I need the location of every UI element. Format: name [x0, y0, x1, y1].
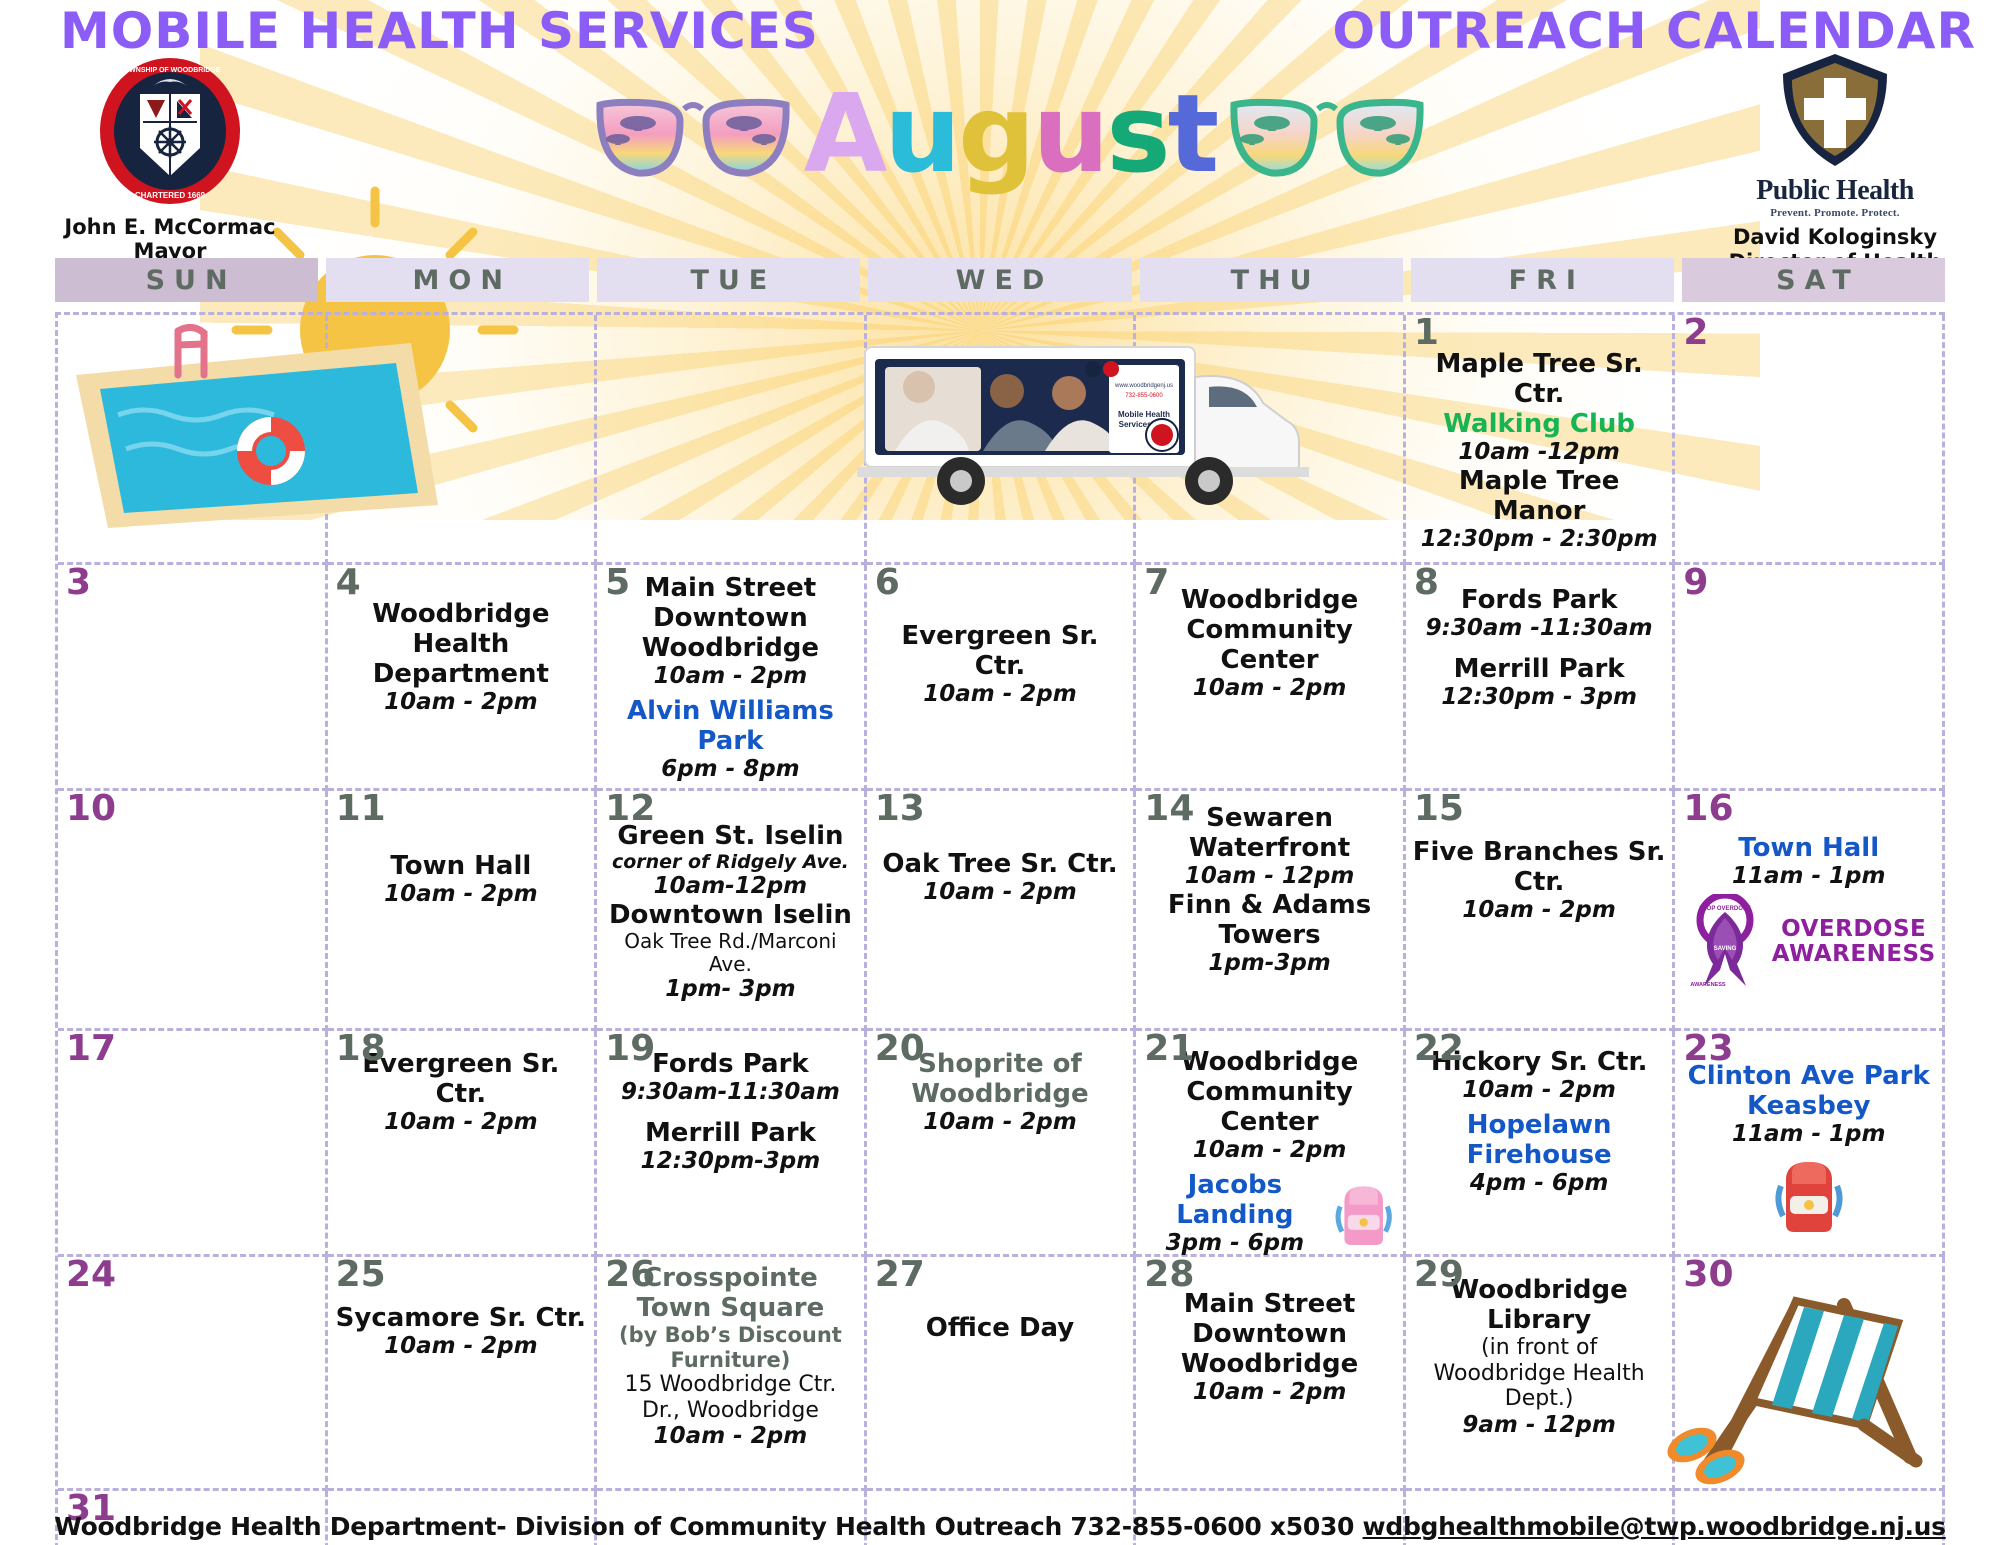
event-time: 10am - 2pm — [334, 881, 589, 908]
event-subtitle: Walking Club — [1412, 409, 1667, 439]
event-title: Clinton Ave Park Keasbey — [1681, 1061, 1936, 1121]
calendar-cell-19[interactable]: 19 Fords Park 9:30am-11:30am Merrill Par… — [597, 1031, 867, 1257]
month-banner: August — [420, 60, 1600, 210]
event-time: 11am - 1pm — [1681, 1121, 1936, 1148]
svg-text:TOWNSHIP OF WOODBRIDGE: TOWNSHIP OF WOODBRIDGE — [120, 67, 221, 74]
event-time: 10am - 2pm — [1412, 897, 1667, 924]
event-time: 10am - 2pm — [873, 681, 1128, 708]
event-title: Sycamore Sr. Ctr. — [334, 1303, 589, 1333]
day-number-16: 16 — [1683, 791, 1733, 827]
month-title: August — [804, 81, 1217, 189]
sunglasses-purple-icon — [588, 75, 798, 195]
event-title-2: Finn & Adams Towers — [1142, 890, 1397, 950]
event-time: 11am - 1pm — [1681, 863, 1936, 890]
event-title: Town Hall — [1681, 833, 1936, 863]
day-number-4: 4 — [336, 565, 361, 601]
event-title-2: Downtown Iselin — [603, 900, 858, 930]
event-title-2: Hopelawn Firehouse — [1412, 1110, 1667, 1170]
event-time: 10am -12pm — [1412, 439, 1667, 466]
event-title: Maple Tree Sr. Ctr. — [1412, 349, 1667, 409]
day-number-13: 13 — [875, 791, 925, 827]
svg-text:CHARTERED 1669: CHARTERED 1669 — [135, 191, 206, 200]
weekday-header-sun: SUN — [55, 258, 318, 302]
calendar-cell-12[interactable]: 12 Green St. Iselin corner of Ridgely Av… — [597, 791, 867, 1031]
event-time: 10am - 2pm — [1142, 675, 1397, 702]
event-time: 10am - 2pm — [603, 663, 858, 690]
event-time: 9:30am -11:30am — [1412, 615, 1667, 642]
day-number-2: 2 — [1683, 315, 1708, 351]
weekday-header-row: SUN MON TUE WED THU FRI SAT — [55, 258, 1945, 302]
day-number-5: 5 — [605, 565, 630, 601]
day-number-29: 29 — [1414, 1257, 1464, 1293]
backpack-icon — [1331, 1171, 1396, 1257]
day-number-7: 7 — [1144, 565, 1169, 601]
calendar-cell-29[interactable]: 29 Woodbridge Library (in front of Woodb… — [1406, 1257, 1676, 1491]
director-name: David Kologinsky — [1710, 225, 1960, 250]
event-title: Evergreen Sr. Ctr. — [873, 621, 1128, 681]
overdose-awareness-line2: AWARENESS — [1772, 942, 1936, 967]
calendar-cell-6[interactable]: 6 Evergreen Sr. Ctr. 10am - 2pm — [867, 565, 1137, 791]
day-number-3: 3 — [66, 565, 91, 601]
event-time-2: 6pm - 8pm — [603, 756, 858, 783]
event-time: 10am - 2pm — [334, 689, 589, 716]
event-title: Main Street Downtown Woodbridge — [1142, 1289, 1397, 1379]
event-address-2: Oak Tree Rd./Marconi Ave. — [603, 930, 858, 976]
event-time-2: 12:30pm - 2:30pm — [1412, 526, 1667, 553]
event-title-2: Merrill Park — [1412, 654, 1667, 684]
footer-contact: Woodbridge Health Department- Division o… — [0, 1512, 2000, 1541]
calendar-cell-17[interactable]: 17 — [58, 1031, 328, 1257]
day-number-9: 9 — [1683, 565, 1708, 601]
event-time: 10am - 12pm — [1142, 863, 1397, 890]
event-title: Woodbridge Health Department — [334, 599, 589, 689]
calendar-cell-2[interactable]: 2 — [1675, 315, 1945, 565]
event-time-2: 1pm- 3pm — [603, 976, 858, 1003]
day-number-20: 20 — [875, 1031, 925, 1067]
day-number-21: 21 — [1144, 1031, 1194, 1067]
day-number-22: 22 — [1414, 1031, 1464, 1067]
event-title-2: Alvin Williams Park — [603, 696, 858, 756]
event-address: (by Bob’s Discount Furniture) — [603, 1323, 858, 1372]
backpack-icon — [1770, 1152, 1848, 1238]
awareness-ribbon-icon: STOP OVERDOSE LIFE SAVING AWARENESS — [1682, 894, 1768, 990]
weekday-header-sat: SAT — [1682, 258, 1945, 302]
beach-chair-icon — [1648, 1261, 1948, 1486]
public-health-shield-icon — [1775, 50, 1895, 170]
event-title: Woodbridge Community Center — [1142, 585, 1397, 675]
calendar-cell-15[interactable]: 15 Five Branches Sr. Ctr. 10am - 2pm — [1406, 791, 1676, 1031]
day-number-25: 25 — [336, 1257, 386, 1293]
event-title: Main Street Downtown Woodbridge — [603, 573, 858, 663]
day-number-17: 17 — [66, 1031, 116, 1067]
calendar-cell-1[interactable]: 1 Maple Tree Sr. Ctr. Walking Club 10am … — [1406, 315, 1676, 565]
weekday-header-wed: WED — [868, 258, 1131, 302]
calendar-cell-3[interactable]: 3 — [58, 565, 328, 791]
event-time-2: 12:30pm-3pm — [603, 1148, 858, 1175]
day-number-12: 12 — [605, 791, 655, 827]
event-time-2: 1pm-3pm — [1142, 950, 1397, 977]
calendar-cell-23[interactable]: 23 Clinton Ave Park Keasbey 11am - 1pm — [1675, 1031, 1945, 1257]
township-seal-block: TOWNSHIP OF WOODBRIDGE CHARTERED 1669 Jo… — [60, 56, 280, 263]
calendar-cell-11[interactable]: 11 Town Hall 10am - 2pm — [328, 791, 598, 1031]
day-number-27: 27 — [875, 1257, 925, 1293]
event-time: 10am - 2pm — [1142, 1137, 1397, 1164]
footer-text: Woodbridge Health Department- Division o… — [54, 1512, 1362, 1541]
event-title-2: Jacobs Landing — [1142, 1170, 1327, 1230]
day-number-19: 19 — [605, 1031, 655, 1067]
calendar-cell-13[interactable]: 13 Oak Tree Sr. Ctr. 10am - 2pm — [867, 791, 1137, 1031]
event-time: 10am - 2pm — [873, 1109, 1128, 1136]
event-title: Five Branches Sr. Ctr. — [1412, 837, 1667, 897]
calendar-cell-5[interactable]: 5 Main Street Downtown Woodbridge 10am -… — [597, 565, 867, 791]
calendar-cell-empty-tue — [597, 315, 867, 565]
event-address: corner of Ridgely Ave. — [603, 851, 858, 873]
weekday-header-tue: TUE — [597, 258, 860, 302]
event-time: 9:30am-11:30am — [603, 1079, 858, 1106]
event-title: Town Hall — [334, 851, 589, 881]
calendar-cell-9[interactable]: 9 — [1675, 565, 1945, 791]
day-number-10: 10 — [66, 791, 116, 827]
calendar-cell-27[interactable]: 27 Office Day — [867, 1257, 1137, 1491]
event-time: 10am-12pm — [603, 873, 858, 900]
svg-text:www.woodbridgenj.us: www.woodbridgenj.us — [1114, 383, 1173, 389]
calendar-cell-26[interactable]: 26 Crosspointe Town Square (by Bob’s Dis… — [597, 1257, 867, 1491]
event-time: 9am - 12pm — [1412, 1412, 1667, 1439]
day-number-11: 11 — [336, 791, 386, 827]
calendar-cell-22[interactable]: 22 Hickory Sr. Ctr. 10am - 2pm Hopelawn … — [1406, 1031, 1676, 1257]
calendar-grid: www.woodbridgenj.us 732-855-0600 Mobile … — [55, 312, 1945, 1545]
event-title-2: Merrill Park — [603, 1118, 858, 1148]
calendar-cell-10[interactable]: 10 — [58, 791, 328, 1031]
event-time-2: 4pm - 6pm — [1412, 1170, 1667, 1197]
weekday-header-fri: FRI — [1411, 258, 1674, 302]
event-title: Fords Park — [1412, 585, 1667, 615]
event-time: 10am - 2pm — [1412, 1077, 1667, 1104]
event-title: Office Day — [873, 1313, 1128, 1343]
footer-email[interactable]: wdbghealthmobile@twp.woodbridge.nj.us — [1363, 1512, 1946, 1541]
svg-text:SAVING: SAVING — [1713, 946, 1736, 952]
page-header: MOBILE HEALTH SERVICES OUTREACH CALENDAR… — [0, 0, 2000, 258]
event-time: 10am - 2pm — [603, 1423, 858, 1450]
mobile-health-van-photo: www.woodbridgenj.us 732-855-0600 Mobile … — [857, 325, 1327, 525]
svg-text:732-855-0600: 732-855-0600 — [1125, 393, 1163, 399]
weekday-header-mon: MON — [326, 258, 589, 302]
page-title-left: MOBILE HEALTH SERVICES — [60, 2, 819, 60]
event-title: Oak Tree Sr. Ctr. — [873, 849, 1128, 879]
day-number-18: 18 — [336, 1031, 386, 1067]
day-number-24: 24 — [66, 1257, 116, 1293]
event-time: 10am - 2pm — [334, 1109, 589, 1136]
svg-text:STOP OVERDOSE: STOP OVERDOSE — [1699, 906, 1751, 912]
day-number-26: 26 — [605, 1257, 655, 1293]
day-number-1: 1 — [1414, 315, 1439, 351]
event-address: (in front of Woodbridge Health Dept.) — [1412, 1335, 1667, 1412]
public-health-block: Public Health Prevent. Promote. Protect.… — [1710, 50, 1960, 275]
calendar-cell-4[interactable]: 4 Woodbridge Health Department 10am - 2p… — [328, 565, 598, 791]
svg-text:Mobile Health: Mobile Health — [1118, 410, 1170, 419]
calendar-cell-24[interactable]: 24 — [58, 1257, 328, 1491]
event-time-2: 12:30pm - 3pm — [1412, 684, 1667, 711]
calendar-cell-14[interactable]: 14 Sewaren Waterfront 10am - 12pm Finn &… — [1136, 791, 1406, 1031]
mayor-name: John E. McCormac — [60, 215, 280, 239]
day-number-23: 23 — [1683, 1031, 1733, 1067]
calendar-cell-16[interactable]: 16 Town Hall 11am - 1pm STOP OVERDOSE LI… — [1675, 791, 1945, 1031]
day-number-28: 28 — [1144, 1257, 1194, 1293]
township-seal-icon: TOWNSHIP OF WOODBRIDGE CHARTERED 1669 — [95, 56, 245, 206]
day-number-15: 15 — [1414, 791, 1464, 827]
day-number-6: 6 — [875, 565, 900, 601]
event-time: 10am - 2pm — [1142, 1379, 1397, 1406]
calendar-cell-8[interactable]: 8 Fords Park 9:30am -11:30am Merrill Par… — [1406, 565, 1676, 791]
calendar-cell-18[interactable]: 18 Evergreen Sr. Ctr. 10am - 2pm — [328, 1031, 598, 1257]
overdose-awareness-line1: OVERDOSE — [1772, 917, 1936, 942]
public-health-title: Public Health — [1710, 175, 1960, 207]
calendar-cell-28[interactable]: 28 Main Street Downtown Woodbridge 10am … — [1136, 1257, 1406, 1491]
sunglasses-green-icon — [1222, 75, 1432, 195]
calendar-cell-empty-sun — [58, 315, 328, 565]
svg-text:AWARENESS: AWARENESS — [1690, 982, 1725, 988]
event-time: 10am - 2pm — [873, 879, 1128, 906]
calendar-cell-21[interactable]: 21 Woodbridge Community Center 10am - 2p… — [1136, 1031, 1406, 1257]
event-address-2: 15 Woodbridge Ctr. Dr., Woodbridge — [603, 1372, 858, 1423]
day-number-8: 8 — [1414, 565, 1439, 601]
event-time: 10am - 2pm — [334, 1333, 589, 1360]
calendar-cell-van: www.woodbridgenj.us 732-855-0600 Mobile … — [867, 315, 1137, 565]
day-number-14: 14 — [1144, 791, 1194, 827]
calendar-cell-7[interactable]: 7 Woodbridge Community Center 10am - 2pm — [1136, 565, 1406, 791]
weekday-header-thu: THU — [1140, 258, 1403, 302]
calendar-cell-30[interactable]: 30 — [1675, 1257, 1945, 1491]
event-title-2: Maple Tree Manor — [1412, 466, 1667, 526]
calendar-cell-20[interactable]: 20 Shoprite of Woodbridge 10am - 2pm — [867, 1031, 1137, 1257]
calendar-cell-25[interactable]: 25 Sycamore Sr. Ctr. 10am - 2pm — [328, 1257, 598, 1491]
public-health-tagline: Prevent. Promote. Protect. — [1710, 207, 1960, 219]
swimming-pool-icon — [66, 323, 446, 538]
